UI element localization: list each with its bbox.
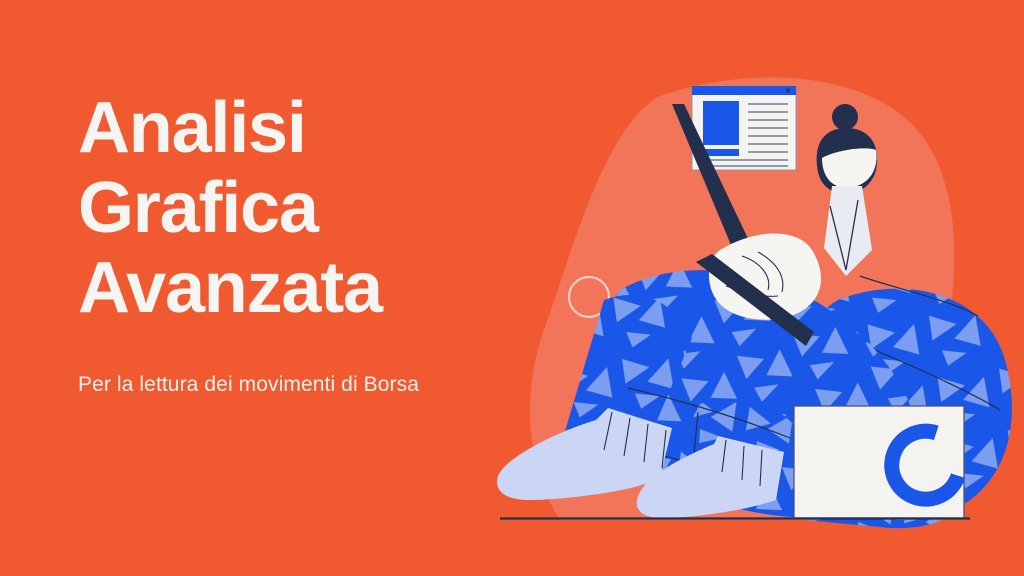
- presentation-slide: Analisi Grafica Avanzata Per la lettura …: [0, 0, 1024, 576]
- headline-line-1: Analisi: [78, 88, 548, 168]
- document-window-titlebar: [692, 86, 796, 95]
- headline-line-2: Grafica: [78, 168, 548, 248]
- headline-line-3: Avanzata: [78, 248, 548, 328]
- document-image-placeholder: [703, 101, 739, 145]
- subtitle: Per la lettura dei movimenti di Borsa: [78, 370, 548, 400]
- document-caption-bar: [703, 149, 739, 156]
- hair-bun-icon: [832, 104, 858, 130]
- title-group: Analisi Grafica Avanzata Per la lettura …: [78, 88, 548, 400]
